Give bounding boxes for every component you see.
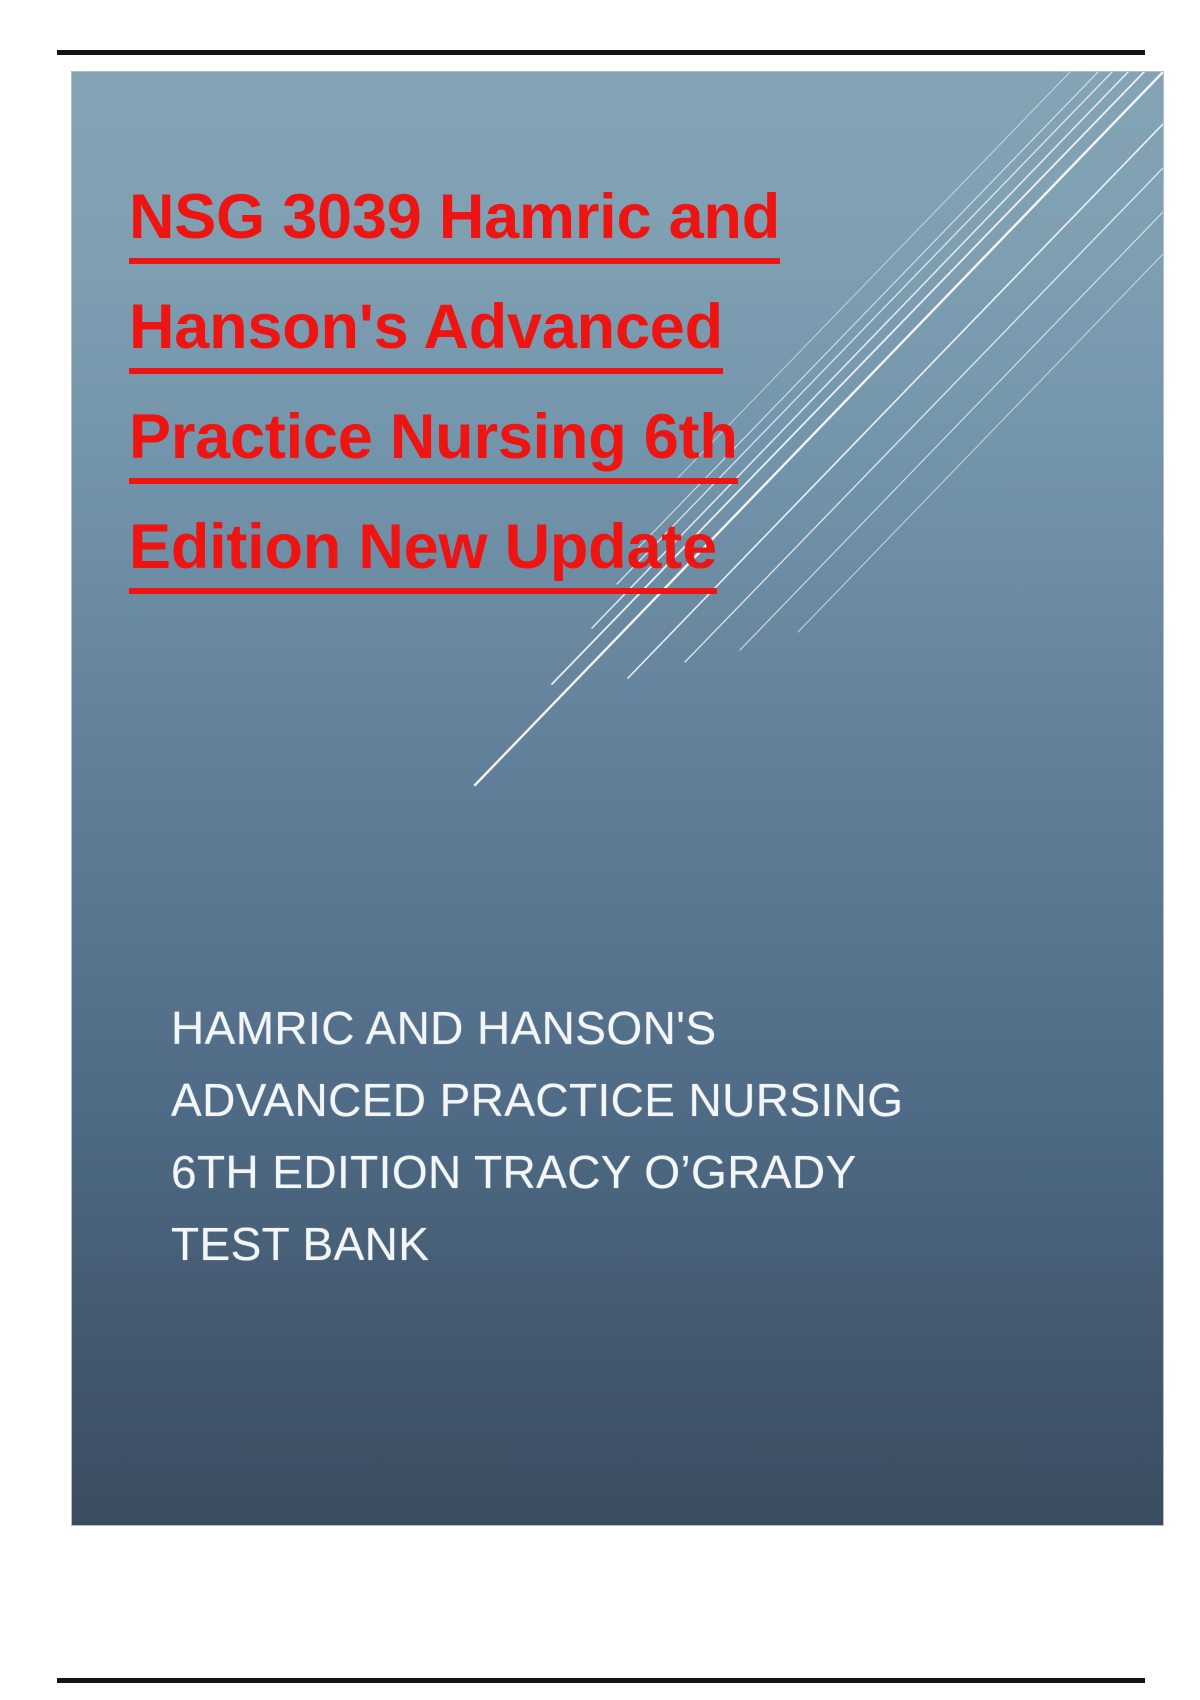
- title-line: NSG 3039 Hamric and: [129, 162, 1009, 272]
- slide-subtitle: HAMRIC AND HANSON'S ADVANCED PRACTICE NU…: [171, 992, 1031, 1280]
- slide-title: NSG 3039 Hamric and Hanson's Advanced Pr…: [129, 162, 1009, 602]
- subtitle-line: ADVANCED PRACTICE NURSING: [171, 1064, 1031, 1136]
- title-line: Hanson's Advanced: [129, 272, 1009, 382]
- slide-cover-image: NSG 3039 Hamric and Hanson's Advanced Pr…: [72, 72, 1163, 1525]
- subtitle-line: 6TH EDITION TRACY O’GRADY: [171, 1136, 1031, 1208]
- top-horizontal-rule: [57, 50, 1145, 55]
- title-line: Practice Nursing 6th: [129, 382, 1009, 492]
- bottom-horizontal-rule: [57, 1678, 1145, 1683]
- subtitle-line: HAMRIC AND HANSON'S: [171, 992, 1031, 1064]
- subtitle-line: TEST BANK: [171, 1208, 1031, 1280]
- title-line: Edition New Update: [129, 492, 1009, 602]
